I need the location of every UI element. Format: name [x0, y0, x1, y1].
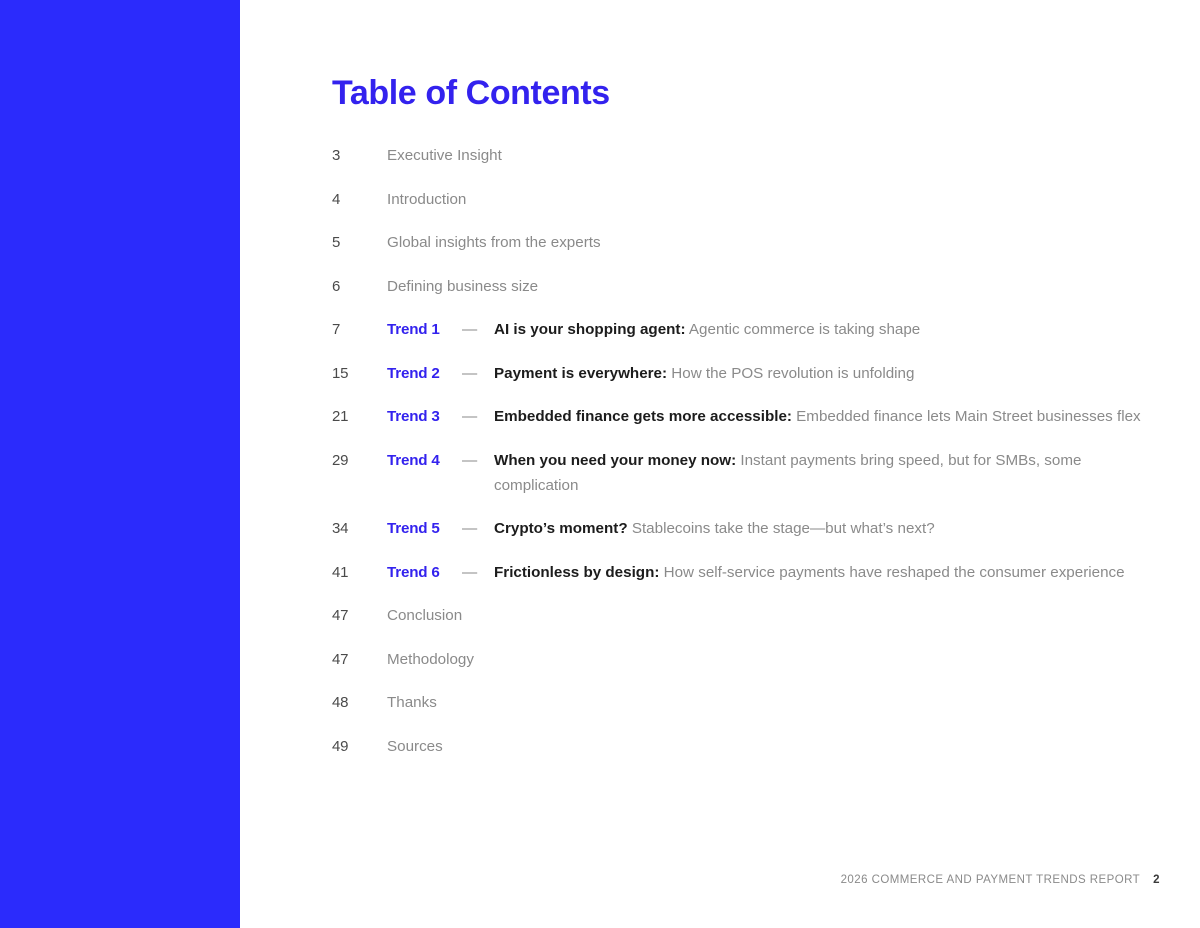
toc-trend-dash: —: [462, 361, 494, 386]
toc-trend-title: When you need your money now:: [494, 452, 736, 469]
toc-entry-body: Thanks: [387, 690, 1160, 715]
toc-entry-body: Introduction: [387, 187, 1160, 212]
toc-entry-body: Sources: [387, 734, 1160, 759]
toc-entry[interactable]: 4Introduction: [332, 187, 1160, 212]
toc-entry[interactable]: 7Trend 1—AI is your shopping agent: Agen…: [332, 317, 1160, 342]
toc-entry-body: Trend 3—Embedded finance gets more acces…: [387, 404, 1160, 429]
toc-entry-body: Conclusion: [387, 603, 1160, 628]
toc-entry-page-number: 47: [332, 603, 387, 628]
left-color-band: [0, 0, 240, 928]
toc-trend-title: AI is your shopping agent:: [494, 321, 686, 338]
toc-entry-page-number: 49: [332, 734, 387, 759]
toc-entry-body: Trend 6—Frictionless by design: How self…: [387, 560, 1160, 585]
toc-trend-description: How self-service payments have reshaped …: [659, 564, 1124, 581]
toc-entry-page-number: 7: [332, 317, 387, 342]
toc-entry-label: Executive Insight: [387, 147, 502, 164]
toc-entry-body: Trend 4—When you need your money now: In…: [387, 448, 1160, 498]
toc-entry[interactable]: 15Trend 2—Payment is everywhere: How the…: [332, 361, 1160, 386]
page-content: Table of Contents 3Executive Insight4Int…: [332, 0, 1160, 928]
toc-trend-title: Embedded finance gets more accessible:: [494, 408, 792, 425]
toc-entry[interactable]: 41Trend 6—Frictionless by design: How se…: [332, 560, 1160, 585]
toc-entry-page-number: 29: [332, 448, 387, 473]
page-footer: 2026 COMMERCE AND PAYMENT TRENDS REPORT2: [841, 874, 1160, 886]
toc-trend-label[interactable]: Trend 2: [387, 361, 462, 386]
toc-entry-body: Executive Insight: [387, 143, 1160, 168]
toc-trend-label[interactable]: Trend 5: [387, 516, 462, 541]
toc-entry-label: Conclusion: [387, 607, 462, 624]
toc-trend-description: Embedded finance lets Main Street busine…: [792, 408, 1141, 425]
toc-trend-label[interactable]: Trend 3: [387, 404, 462, 429]
toc-entry-label: Introduction: [387, 191, 466, 208]
toc-entry-page-number: 15: [332, 361, 387, 386]
toc-trend-text: When you need your money now: Instant pa…: [494, 448, 1154, 498]
toc-trend-description: How the POS revolution is unfolding: [667, 365, 914, 382]
toc-entry[interactable]: 34Trend 5—Crypto’s moment? Stablecoins t…: [332, 516, 1160, 541]
toc-entry-page-number: 4: [332, 187, 387, 212]
toc-entry-page-number: 47: [332, 647, 387, 672]
toc-entry[interactable]: 3Executive Insight: [332, 143, 1160, 168]
toc-trend-label[interactable]: Trend 4: [387, 448, 462, 473]
toc-trend-dash: —: [462, 560, 494, 585]
toc-entry[interactable]: 47Conclusion: [332, 603, 1160, 628]
toc-entry-body: Trend 5—Crypto’s moment? Stablecoins tak…: [387, 516, 1160, 541]
toc-entry-label: Thanks: [387, 694, 437, 711]
footer-report-name: 2026 COMMERCE AND PAYMENT TRENDS REPORT: [841, 874, 1141, 886]
toc-entry[interactable]: 29Trend 4—When you need your money now: …: [332, 448, 1160, 498]
toc-trend-description: Agentic commerce is taking shape: [686, 321, 921, 338]
toc-trend-text: Embedded finance gets more accessible: E…: [494, 404, 1154, 429]
toc-trend-label[interactable]: Trend 1: [387, 317, 462, 342]
footer-page-number: 2: [1153, 874, 1160, 886]
toc-trend-text: Frictionless by design: How self-service…: [494, 560, 1154, 585]
toc-entry[interactable]: 48Thanks: [332, 690, 1160, 715]
toc-entry-label: Methodology: [387, 651, 474, 668]
table-of-contents-list: 3Executive Insight4Introduction5Global i…: [332, 143, 1160, 777]
toc-entry-label: Defining business size: [387, 278, 538, 295]
toc-trend-description: Stablecoins take the stage—but what’s ne…: [628, 520, 935, 537]
toc-trend-text: Payment is everywhere: How the POS revol…: [494, 361, 1154, 386]
toc-entry[interactable]: 21Trend 3—Embedded finance gets more acc…: [332, 404, 1160, 429]
toc-entry[interactable]: 6Defining business size: [332, 274, 1160, 299]
toc-trend-dash: —: [462, 516, 494, 541]
toc-entry[interactable]: 49Sources: [332, 734, 1160, 759]
toc-entry-body: Trend 1—AI is your shopping agent: Agent…: [387, 317, 1160, 342]
toc-entry-page-number: 5: [332, 230, 387, 255]
page-title: Table of Contents: [332, 76, 610, 110]
toc-trend-text: AI is your shopping agent: Agentic comme…: [494, 317, 1154, 342]
toc-entry[interactable]: 47Methodology: [332, 647, 1160, 672]
toc-entry-body: Defining business size: [387, 274, 1160, 299]
toc-entry-page-number: 41: [332, 560, 387, 585]
toc-entry-body: Global insights from the experts: [387, 230, 1160, 255]
toc-entry-label: Global insights from the experts: [387, 234, 601, 251]
toc-trend-dash: —: [462, 448, 494, 473]
toc-trend-dash: —: [462, 404, 494, 429]
toc-entry-page-number: 3: [332, 143, 387, 168]
toc-trend-title: Frictionless by design:: [494, 564, 659, 581]
toc-entry-body: Methodology: [387, 647, 1160, 672]
toc-entry-page-number: 34: [332, 516, 387, 541]
toc-entry-body: Trend 2—Payment is everywhere: How the P…: [387, 361, 1160, 386]
toc-trend-dash: —: [462, 317, 494, 342]
toc-entry-page-number: 48: [332, 690, 387, 715]
toc-entry-page-number: 21: [332, 404, 387, 429]
toc-trend-title: Crypto’s moment?: [494, 520, 628, 537]
toc-entry-label: Sources: [387, 738, 443, 755]
toc-trend-text: Crypto’s moment? Stablecoins take the st…: [494, 516, 1154, 541]
toc-entry-page-number: 6: [332, 274, 387, 299]
toc-trend-label[interactable]: Trend 6: [387, 560, 462, 585]
toc-trend-title: Payment is everywhere:: [494, 365, 667, 382]
toc-entry[interactable]: 5Global insights from the experts: [332, 230, 1160, 255]
